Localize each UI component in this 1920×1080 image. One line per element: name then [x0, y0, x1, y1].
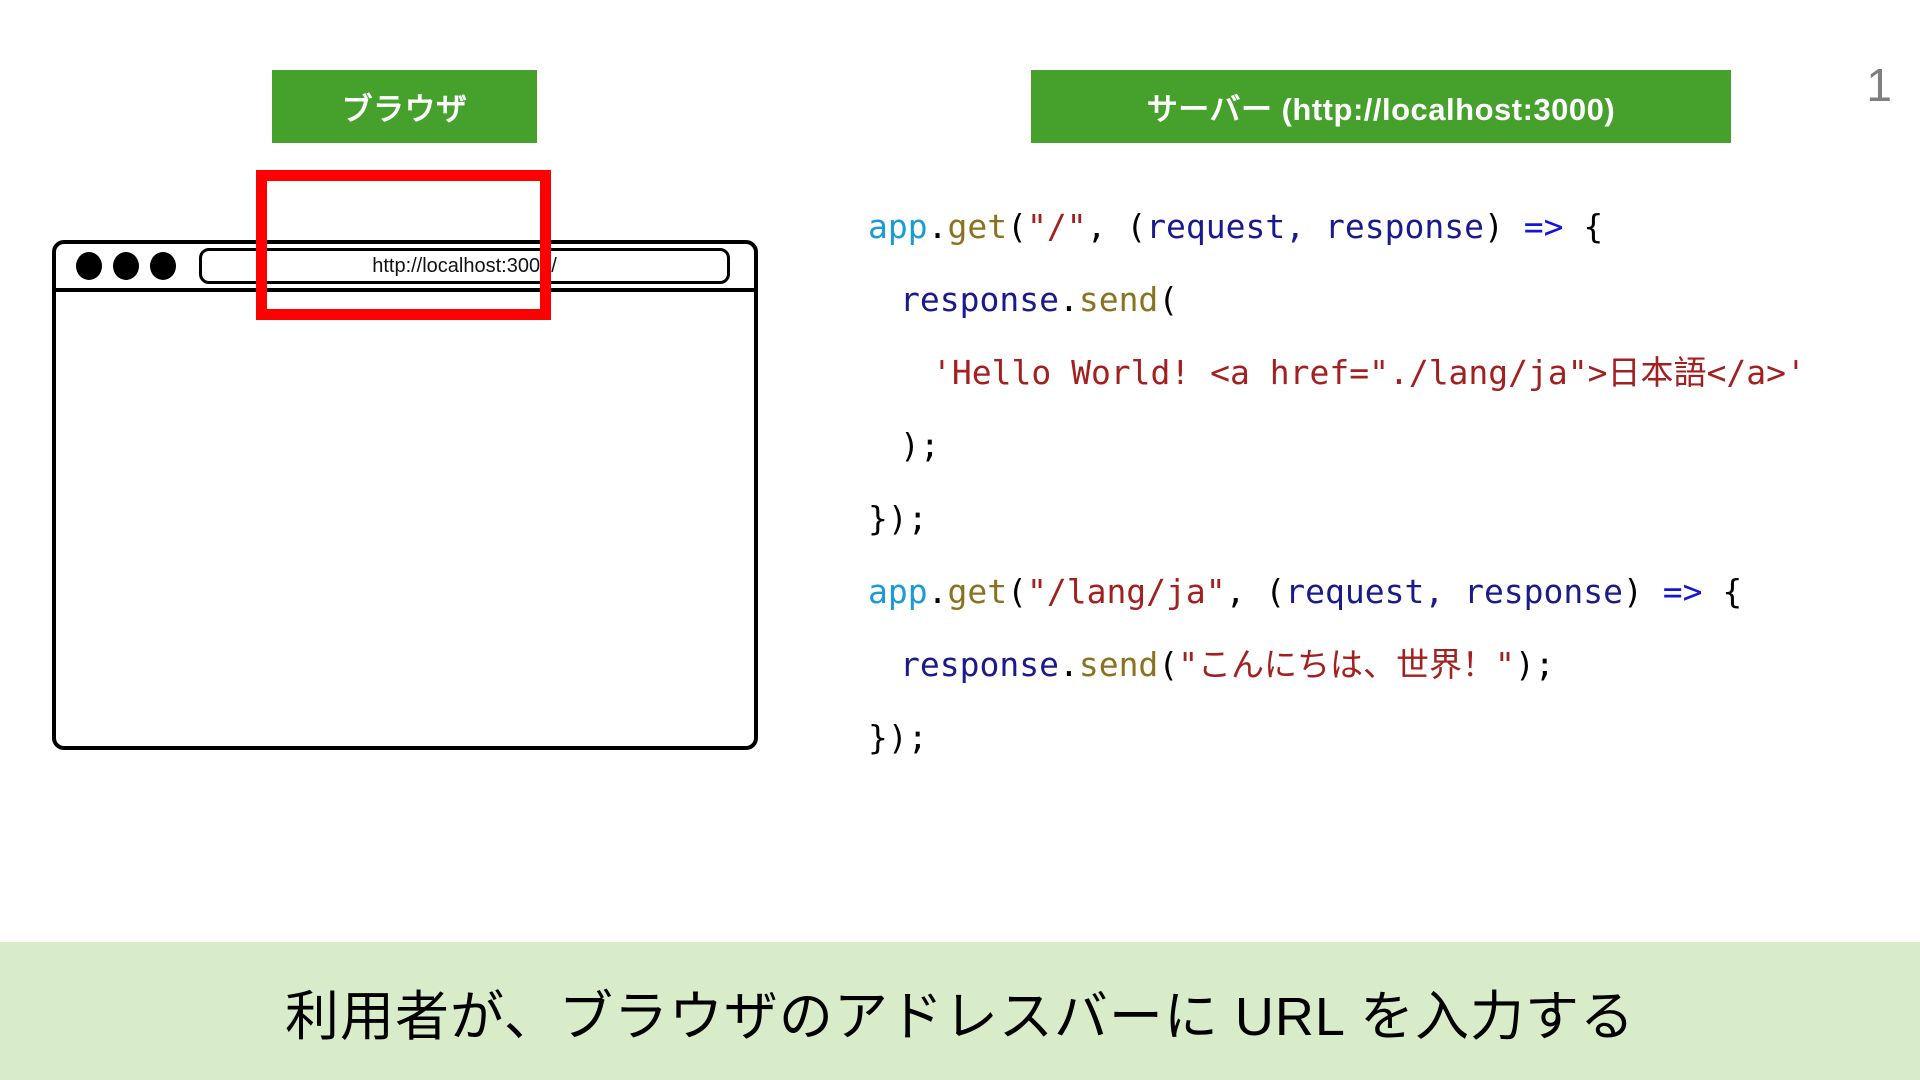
code-token-punct: );	[1515, 645, 1555, 684]
traffic-light-dot-icon[interactable]	[113, 252, 139, 280]
code-token-param: request, response	[1285, 572, 1623, 611]
code-token-str: "/lang/ja"	[1027, 572, 1226, 611]
caption-bar: 利用者が、ブラウザのアドレスバーに URL を入力する	[0, 942, 1920, 1080]
code-line: response.send(	[868, 263, 1898, 336]
code-token-param: response	[900, 280, 1059, 319]
code-token-punct: )	[1484, 207, 1524, 246]
code-line: });	[868, 482, 1898, 555]
browser-chrome-bar: http://localhost:3000/	[52, 240, 758, 292]
code-token-method: get	[947, 207, 1007, 246]
code-token-punct: (	[1158, 280, 1178, 319]
browser-viewport	[52, 288, 758, 750]
code-token-method: get	[947, 572, 1007, 611]
code-line: response.send("こんにちは、世界！");	[868, 628, 1898, 701]
page-number: 1	[1866, 62, 1892, 108]
slide-canvas: ブラウザ サーバー (http://localhost:3000) 1 http…	[0, 0, 1920, 1080]
code-token-punct: .	[928, 207, 948, 246]
code-token-obj: app	[868, 207, 928, 246]
code-token-obj: app	[868, 572, 928, 611]
code-token-punct: .	[1059, 645, 1079, 684]
code-token-punct: , (	[1087, 207, 1147, 246]
code-line: app.get("/lang/ja", (request, response) …	[868, 555, 1898, 628]
code-token-punct: );	[900, 426, 940, 465]
traffic-light-dot-icon[interactable]	[150, 252, 176, 280]
code-line: app.get("/", (request, response) => {	[868, 190, 1898, 263]
code-token-method: send	[1079, 645, 1158, 684]
code-token-str: "/"	[1027, 207, 1087, 246]
code-token-punct: .	[1059, 280, 1079, 319]
server-column-header: サーバー (http://localhost:3000)	[1031, 70, 1731, 143]
browser-column-header-label: ブラウザ	[342, 84, 468, 129]
code-token-arrow: =>	[1524, 207, 1564, 246]
code-line: 'Hello World! <a href="./lang/ja">日本語</a…	[868, 336, 1898, 409]
code-token-method: send	[1079, 280, 1158, 319]
code-token-punct: )	[1623, 572, 1663, 611]
code-token-punct: (	[1007, 207, 1027, 246]
code-token-str: 'Hello World! <a href="./lang/ja">日本語</a…	[932, 353, 1806, 392]
code-token-punct: {	[1703, 572, 1743, 611]
code-token-punct: (	[1158, 645, 1178, 684]
browser-window-mockup: http://localhost:3000/	[52, 240, 758, 750]
code-token-punct: .	[928, 572, 948, 611]
traffic-light-dot-icon[interactable]	[76, 252, 102, 280]
code-token-param: request, response	[1146, 207, 1484, 246]
code-token-str: "こんにちは、世界！"	[1178, 645, 1515, 684]
code-token-punct: });	[868, 499, 928, 538]
address-bar-input[interactable]: http://localhost:3000/	[199, 248, 730, 284]
code-token-param: response	[900, 645, 1059, 684]
code-line: );	[868, 409, 1898, 482]
code-line: });	[868, 701, 1898, 774]
server-column-header-label: サーバー (http://localhost:3000)	[1147, 84, 1615, 129]
server-code-block: app.get("/", (request, response) => {res…	[868, 190, 1898, 774]
code-token-punct: (	[1007, 572, 1027, 611]
code-token-punct: {	[1563, 207, 1603, 246]
browser-column-header: ブラウザ	[272, 70, 537, 143]
code-token-arrow: =>	[1663, 572, 1703, 611]
code-token-punct: , (	[1226, 572, 1286, 611]
code-token-punct: });	[868, 718, 928, 757]
caption-text: 利用者が、ブラウザのアドレスバーに URL を入力する	[285, 972, 1635, 1051]
